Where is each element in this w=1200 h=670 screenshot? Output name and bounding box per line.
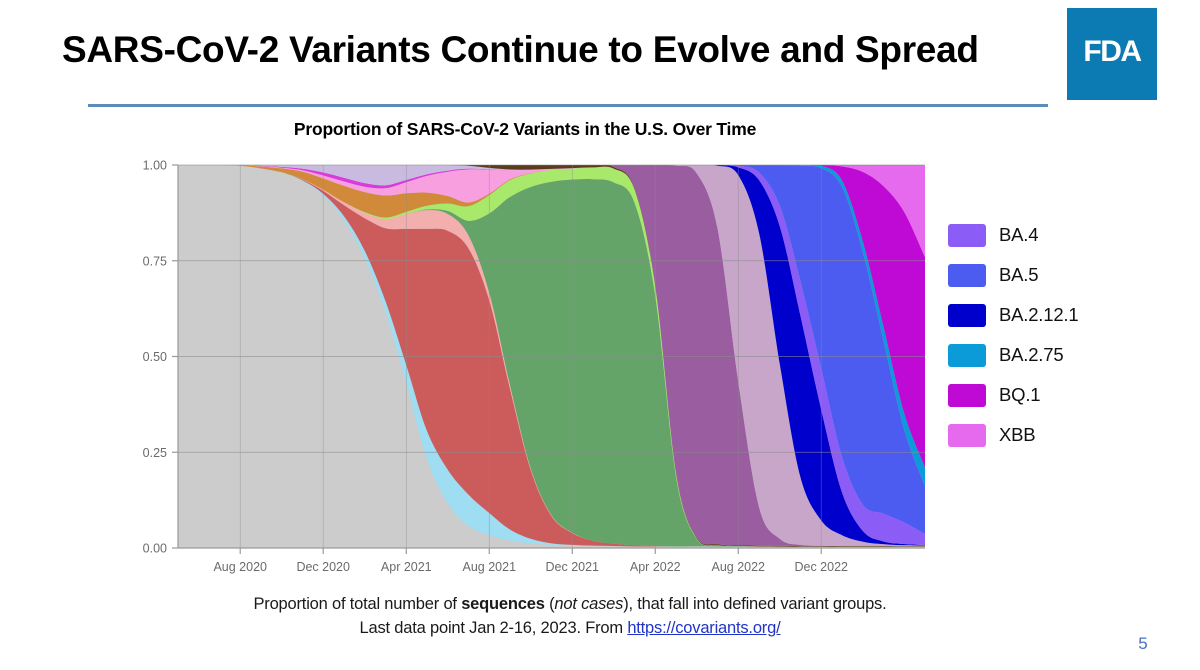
covariants-link[interactable]: https://covariants.org/	[627, 619, 780, 637]
page-number: 5	[1128, 634, 1158, 654]
svg-text:Dec 2020: Dec 2020	[296, 560, 350, 574]
caption-line-2: Last data point Jan 2-16, 2023. From htt…	[0, 617, 1140, 641]
legend-label-ba2121: BA.2.12.1	[999, 304, 1078, 326]
legend-swatch-xbb	[948, 424, 986, 447]
svg-text:1.00: 1.00	[143, 159, 167, 173]
title-divider	[88, 104, 1048, 107]
svg-text:0.50: 0.50	[143, 350, 167, 364]
svg-text:Apr 2022: Apr 2022	[630, 560, 681, 574]
chart-svg: 0.000.250.500.751.00Aug 2020Dec 2020Apr …	[118, 150, 948, 590]
svg-text:0.25: 0.25	[143, 446, 167, 460]
caption-text-3: ), that fall into defined variant groups…	[623, 595, 886, 613]
slide-root: SARS-CoV-2 Variants Continue to Evolve a…	[0, 0, 1200, 670]
legend-swatch-ba4	[948, 224, 986, 247]
legend-item: BA.2.12.1	[948, 295, 1078, 335]
legend-swatch-bq1	[948, 384, 986, 407]
svg-text:Apr 2021: Apr 2021	[381, 560, 432, 574]
variant-area-chart: 0.000.250.500.751.00Aug 2020Dec 2020Apr …	[118, 150, 948, 590]
legend-item: BA.5	[948, 255, 1078, 295]
caption-text-2: (	[545, 595, 555, 613]
caption-line-1: Proportion of total number of sequences …	[0, 593, 1140, 617]
legend-label-ba275: BA.2.75	[999, 344, 1063, 366]
svg-text:Aug 2021: Aug 2021	[463, 560, 517, 574]
svg-text:Dec 2021: Dec 2021	[546, 560, 600, 574]
svg-text:Aug 2020: Aug 2020	[213, 560, 267, 574]
legend-swatch-ba2121	[948, 304, 986, 327]
svg-text:0.00: 0.00	[143, 542, 167, 556]
legend-label-xbb: XBB	[999, 424, 1035, 446]
legend-label-ba5: BA.5	[999, 264, 1038, 286]
legend-swatch-ba5	[948, 264, 986, 287]
fda-logo-text: FDA	[1067, 35, 1157, 69]
page-title: SARS-CoV-2 Variants Continue to Evolve a…	[62, 30, 1052, 71]
svg-text:Aug 2022: Aug 2022	[711, 560, 765, 574]
chart-title: Proportion of SARS-CoV-2 Variants in the…	[0, 119, 1050, 140]
legend-item: XBB	[948, 415, 1078, 455]
legend-item: BQ.1	[948, 375, 1078, 415]
legend-item: BA.4	[948, 215, 1078, 255]
legend-swatch-ba275	[948, 344, 986, 367]
caption-bold-sequences: sequences	[461, 595, 545, 613]
caption-text-4: Last data point Jan 2-16, 2023. From	[360, 619, 628, 637]
svg-text:Dec 2022: Dec 2022	[794, 560, 848, 574]
caption-italic-notcases: not cases	[554, 595, 623, 613]
legend-label-bq1: BQ.1	[999, 384, 1040, 406]
legend-item: BA.2.75	[948, 335, 1078, 375]
svg-text:0.75: 0.75	[143, 254, 167, 268]
caption-text-1: Proportion of total number of	[253, 595, 461, 613]
legend-label-ba4: BA.4	[999, 224, 1038, 246]
chart-caption: Proportion of total number of sequences …	[0, 593, 1140, 641]
fda-logo: FDA	[1067, 8, 1157, 100]
chart-legend: BA.4 BA.5 BA.2.12.1 BA.2.75 BQ.1 XBB	[948, 215, 1078, 455]
